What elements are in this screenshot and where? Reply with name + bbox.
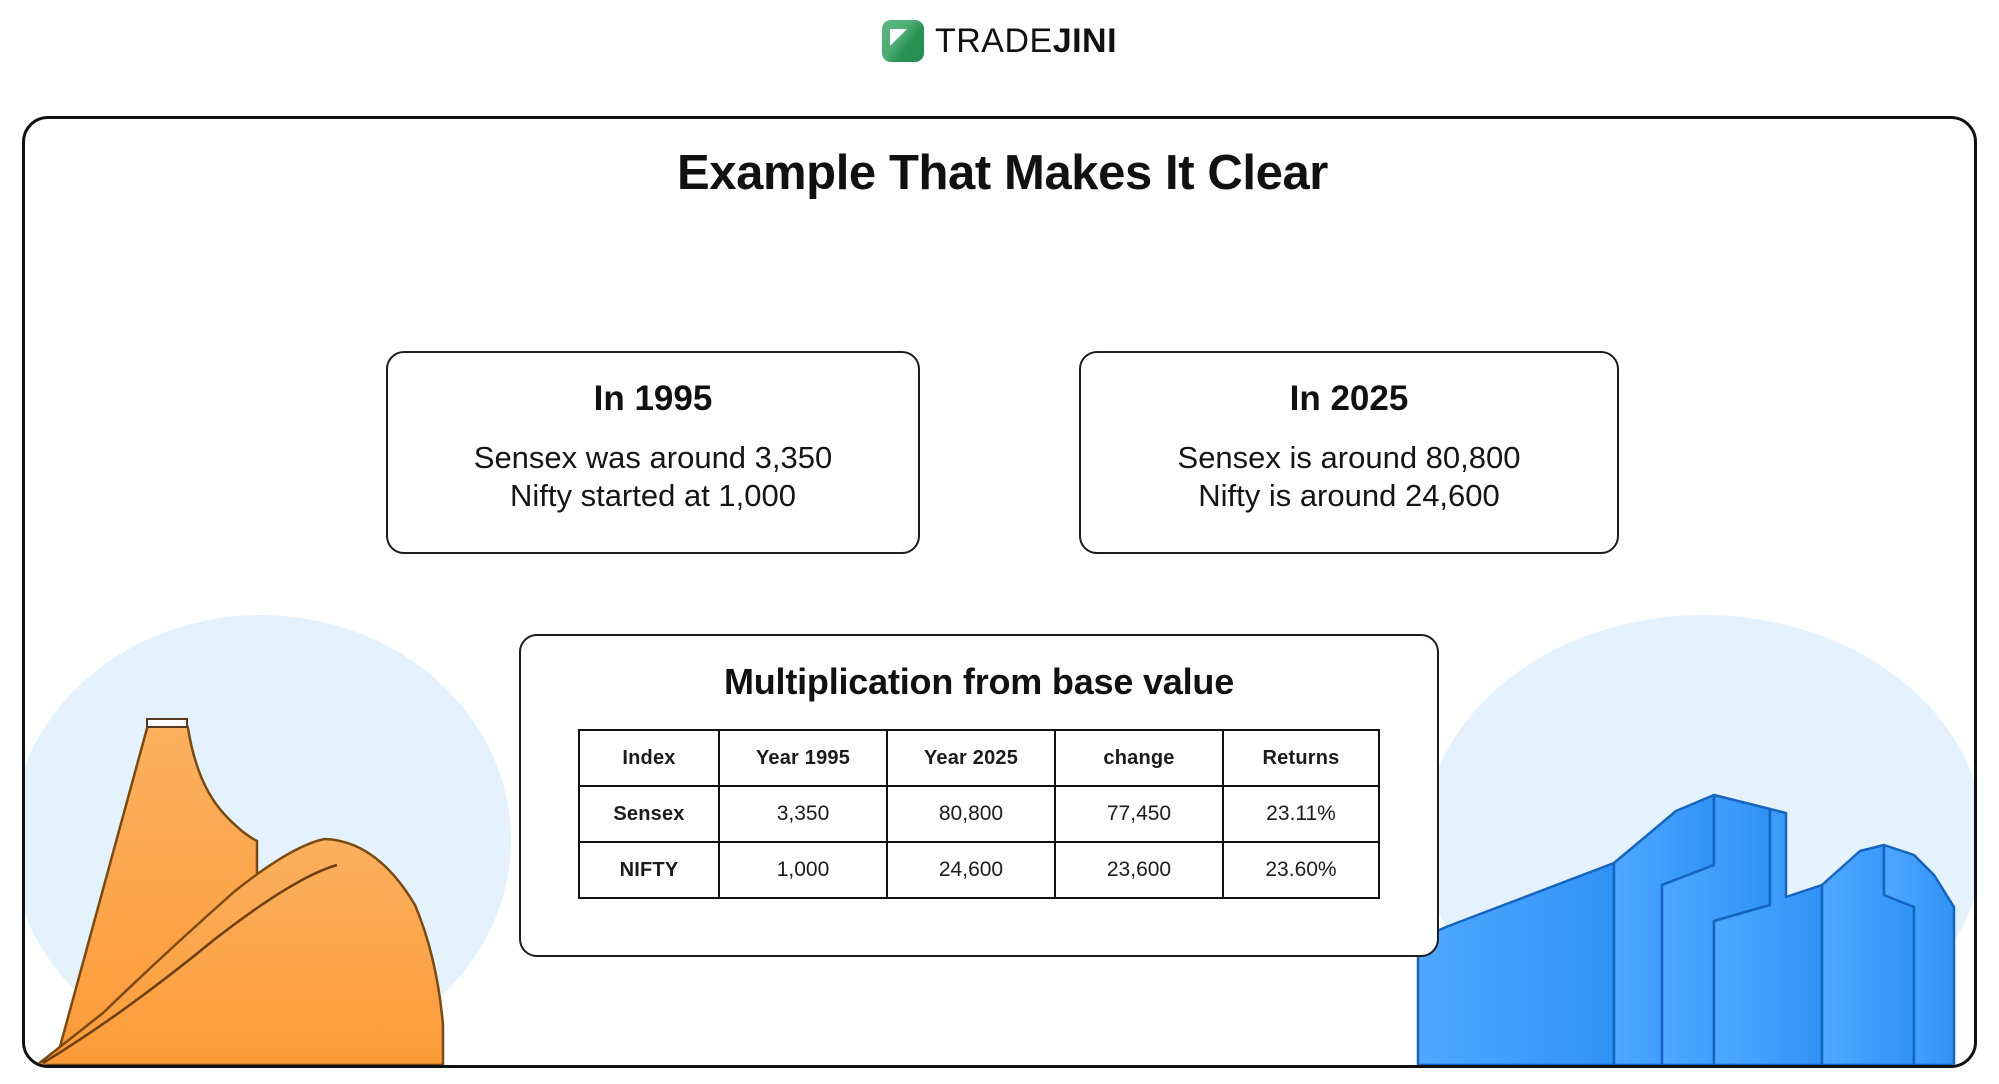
card-title-2025: In 2025 xyxy=(1081,379,1617,419)
row-nifty-returns: 23.60% xyxy=(1223,842,1379,898)
card-2025-sensex-line: Sensex is around 80,800 xyxy=(1081,439,1617,477)
row-sensex-index: Sensex xyxy=(579,786,719,842)
infographic-root: TRADEJINI xyxy=(0,0,1999,1084)
row-nifty-index: NIFTY xyxy=(579,842,719,898)
multiplication-table: Index Year 1995 Year 2025 change Returns… xyxy=(578,729,1380,899)
main-panel: Example That Makes It Clear In 1995 Sens… xyxy=(22,116,1977,1068)
card-1995-sensex-line: Sensex was around 3,350 xyxy=(388,439,918,477)
column-header-year-1995: Year 1995 xyxy=(719,730,887,786)
table-row: NIFTY 1,000 24,600 23,600 23.60% xyxy=(579,842,1379,898)
multiplication-table-panel: Multiplication from base value Index Yea… xyxy=(519,634,1439,957)
brand-name-light: TRADE xyxy=(935,22,1053,60)
table-row: Sensex 3,350 80,800 77,450 23.11% xyxy=(579,786,1379,842)
row-nifty-change: 23,600 xyxy=(1055,842,1223,898)
brand-wordmark: TRADEJINI xyxy=(935,24,1117,58)
table-header-row: Index Year 1995 Year 2025 change Returns xyxy=(579,730,1379,786)
row-nifty-year-1995: 1,000 xyxy=(719,842,887,898)
row-sensex-year-1995: 3,350 xyxy=(719,786,887,842)
card-1995-nifty-line: Nifty started at 1,000 xyxy=(388,477,918,515)
column-header-index: Index xyxy=(579,730,719,786)
right-decorative-circle xyxy=(1424,615,1977,1065)
row-sensex-year-2025: 80,800 xyxy=(887,786,1055,842)
column-header-change: change xyxy=(1055,730,1223,786)
card-2025-nifty-line: Nifty is around 24,600 xyxy=(1081,477,1617,515)
page-title: Example That Makes It Clear xyxy=(25,145,1977,201)
table-heading: Multiplication from base value xyxy=(521,661,1437,703)
row-sensex-change: 77,450 xyxy=(1055,786,1223,842)
tradejini-logo-icon xyxy=(882,20,924,62)
brand-name-bold: JINI xyxy=(1053,22,1117,60)
brand-header: TRADEJINI xyxy=(0,10,1999,72)
year-card-1995: In 1995 Sensex was around 3,350 Nifty st… xyxy=(386,351,920,554)
left-decorative-circle xyxy=(22,615,511,1065)
column-header-returns: Returns xyxy=(1223,730,1379,786)
card-title-1995: In 1995 xyxy=(388,379,918,419)
year-card-2025: In 2025 Sensex is around 80,800 Nifty is… xyxy=(1079,351,1619,554)
row-sensex-returns: 23.11% xyxy=(1223,786,1379,842)
column-header-year-2025: Year 2025 xyxy=(887,730,1055,786)
row-nifty-year-2025: 24,600 xyxy=(887,842,1055,898)
